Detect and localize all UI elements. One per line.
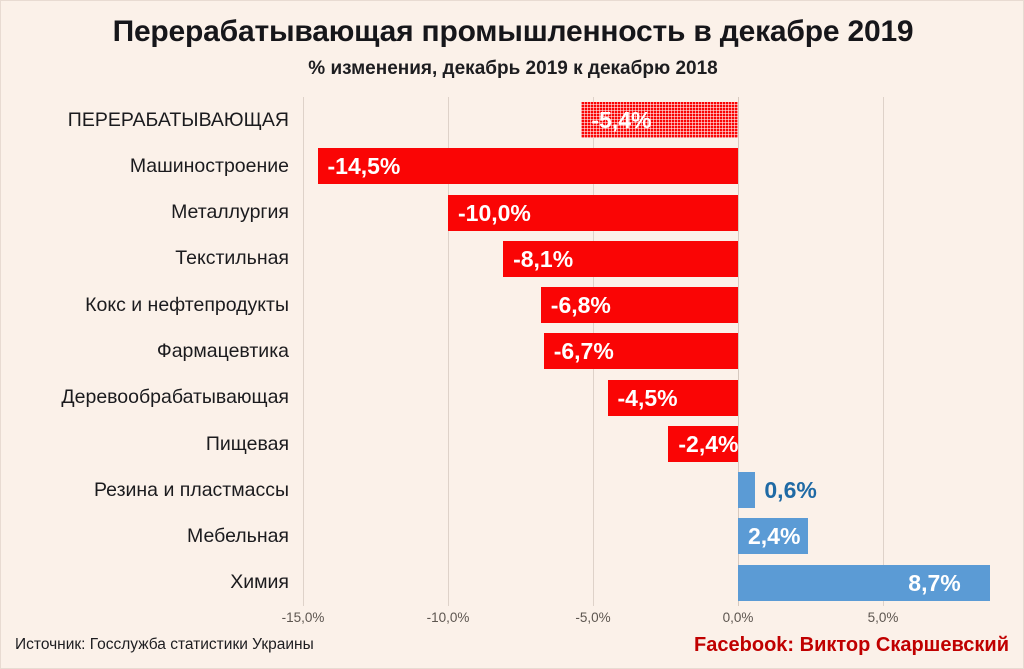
category-label: Металлургия [171,201,289,224]
category-label: Кокс и нефтепродукты [85,294,289,317]
bar-value-label: 2,4% [748,518,800,554]
bar-value-label: -8,1% [513,241,573,277]
category-label: Резина и пластмассы [94,479,289,502]
category-label-row: Металлургия [1,190,289,236]
category-label: Пищевая [206,433,289,456]
category-label: Химия [230,571,289,594]
plot-area: -5,4%-14,5%-10,0%-8,1%-6,8%-6,7%-4,5%-2,… [303,97,989,606]
bar-value-label: -4,5% [618,380,678,416]
category-label: Деревообрабатывающая [61,386,289,409]
category-label-row: ПЕРЕРАБАТЫВАЮЩАЯ [1,97,289,143]
category-label-row: Кокс и нефтепродукты [1,282,289,328]
author-credit: Facebook: Виктор Скаршевский [694,634,1009,657]
bar-row: 8,7% [303,560,989,606]
bar-row: -2,4% [303,421,989,467]
bar-row: -6,8% [303,282,989,328]
bar-value-label: -14,5% [328,148,401,184]
bar-row: 0,6% [303,467,989,513]
bar-value-label: -6,7% [554,333,614,369]
category-label-row: Химия [1,560,289,606]
x-tick-label: 0,0% [723,610,754,625]
category-label-row: Деревообрабатывающая [1,375,289,421]
bar-row: -6,7% [303,328,989,374]
bar-value-label: -10,0% [458,195,531,231]
chart-container: Перерабатывающая промышленность в декабр… [0,0,1024,669]
bar-value-label: -5,4% [591,102,651,138]
category-label-row: Резина и пластмассы [1,467,289,513]
bar-row: -10,0% [303,190,989,236]
bar-value-label: 0,6% [764,472,816,508]
x-tick-label: -5,0% [575,610,610,625]
chart-subtitle: % изменения, декабрь 2019 к декабрю 2018 [1,58,1024,80]
category-label-row: Пищевая [1,421,289,467]
category-label-row: Фармацевтика [1,328,289,374]
category-label: Фармацевтика [157,340,289,363]
category-label: Текстильная [175,247,289,270]
category-label-row: Машиностроение [1,143,289,189]
category-label-row: Мебельная [1,513,289,559]
category-label: Мебельная [187,525,289,548]
bar-row: -8,1% [303,236,989,282]
category-axis-labels: ПЕРЕРАБАТЫВАЮЩАЯМашиностроениеМеталлурги… [1,97,289,606]
category-label-row: Текстильная [1,236,289,282]
source-note: Источник: Госслужба статистики Украины [15,636,314,654]
chart-title: Перерабатывающая промышленность в декабр… [1,15,1024,49]
bar-row: -4,5% [303,375,989,421]
bar-value-label: -6,8% [551,287,611,323]
category-label: Машиностроение [130,155,289,178]
bar-row: 2,4% [303,513,989,559]
bar-row: -14,5% [303,143,989,189]
x-tick-label: -15,0% [282,610,325,625]
x-tick-label: -10,0% [427,610,470,625]
bar-row: -5,4% [303,97,989,143]
x-tick-label: 5,0% [868,610,899,625]
x-axis-tick-labels: -15,0%-10,0%-5,0%0,0%5,0% [1,610,1024,632]
bar[interactable] [738,472,755,508]
bar-value-label: -2,4% [678,426,738,462]
bar-value-label: 8,7% [908,565,960,601]
category-label: ПЕРЕРАБАТЫВАЮЩАЯ [68,109,289,132]
